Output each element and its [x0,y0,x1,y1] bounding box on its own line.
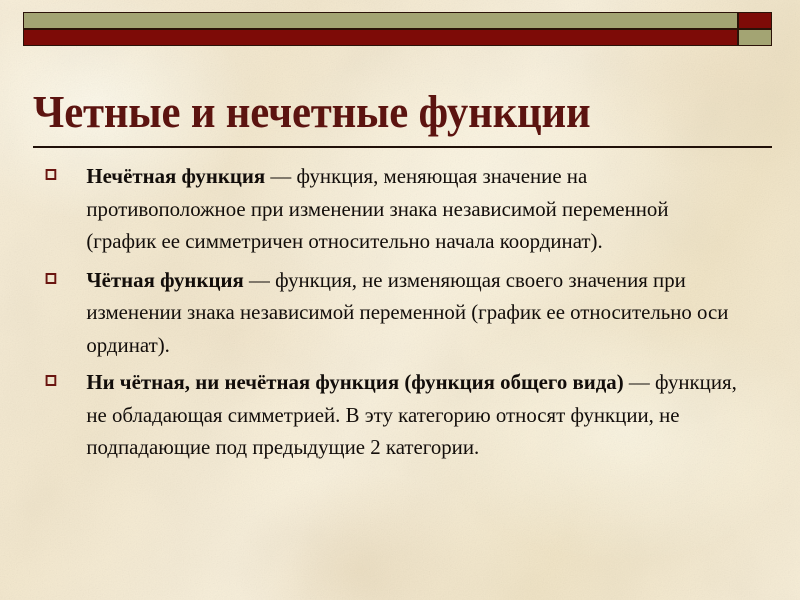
bullet-term: Ни чётная, ни нечётная функция (функция … [86,370,623,394]
bullet-term: Чётная функция [86,268,243,292]
banner-band-maroon [23,29,738,46]
banner-cap-olive [738,29,772,46]
bullet-term: Нечётная функция [86,164,265,188]
list-item: Нечётная функция — функция, меняющая зна… [33,160,741,258]
title-underline-rule [33,146,772,148]
bullet-list: Нечётная функция — функция, меняющая зна… [33,160,763,471]
square-bullet-icon [46,375,57,386]
banner-row-top [23,12,772,29]
square-bullet-icon [46,273,57,284]
list-item: Ни чётная, ни нечётная функция (функция … [33,366,741,464]
slide-title: Четные и нечетные функции [33,85,721,139]
list-item: Чётная функция — функция, не изменяющая … [33,264,741,362]
bullet-text: Ни чётная, ни нечётная функция (функция … [86,366,741,464]
presentation-slide: Четные и нечетные функции Нечётная функц… [0,0,800,600]
bullet-text: Чётная функция — функция, не изменяющая … [86,264,741,362]
bullet-text: Нечётная функция — функция, меняющая зна… [86,160,741,258]
banner-cap-maroon [738,12,772,29]
banner-band-olive [23,12,738,29]
square-bullet-icon [46,169,57,180]
decorative-top-banner [23,12,772,47]
banner-row-bottom [23,29,772,46]
